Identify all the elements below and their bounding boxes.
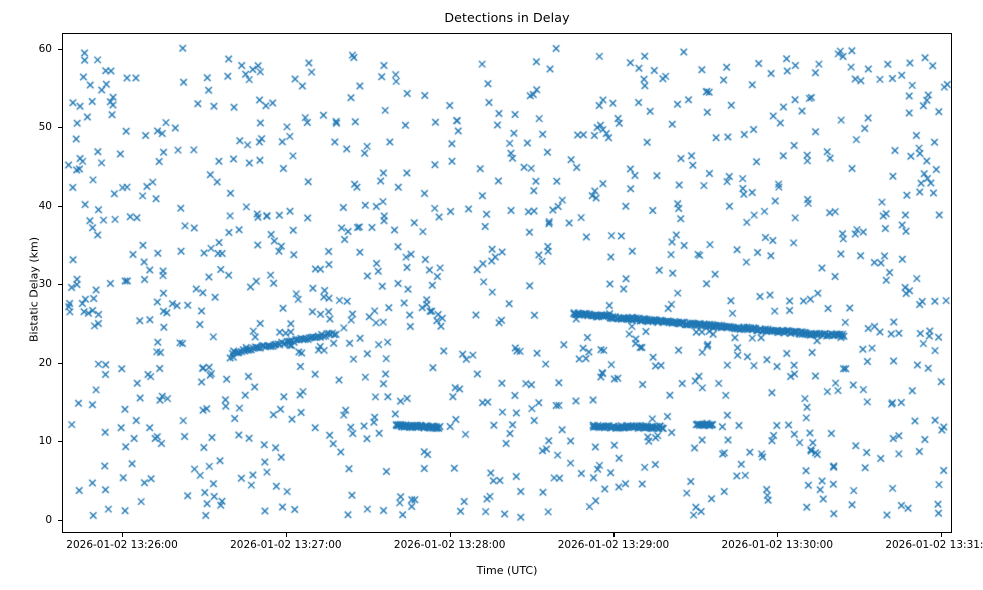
x-tick-label: 2026-01-02 13:30:00	[722, 539, 834, 551]
x-tick-label: 2026-01-02 13:28:00	[394, 539, 506, 551]
y-tick-label: 50	[0, 121, 59, 133]
x-tick-label: 2026-01-02 13:27:00	[230, 539, 342, 551]
y-tick-label: 10	[0, 435, 59, 447]
x-tick-mark	[777, 533, 778, 537]
x-tick-mark	[286, 533, 287, 537]
y-tick-label: 0	[0, 514, 59, 526]
x-axis-label: Time (UTC)	[62, 564, 952, 577]
x-tick-mark	[450, 533, 451, 537]
figure-canvas: Detections in Delay 2026-01-02 13:26:002…	[0, 0, 983, 590]
scatter-plot-canvas	[63, 34, 952, 533]
x-tick-mark	[613, 533, 614, 537]
x-tick-label: 2026-01-02 13:29:00	[558, 539, 670, 551]
y-axis-label: Bistatic Delay (km)	[28, 180, 41, 400]
chart-title: Detections in Delay	[62, 10, 952, 25]
x-tick-label: 2026-01-02 13:26:00	[66, 539, 178, 551]
x-tick-label: 2026-01-02 13:31:00	[885, 539, 983, 551]
x-tick-mark	[941, 533, 942, 537]
x-tick-mark	[122, 533, 123, 537]
plot-area[interactable]	[62, 33, 952, 533]
y-tick-label: 60	[0, 43, 59, 55]
